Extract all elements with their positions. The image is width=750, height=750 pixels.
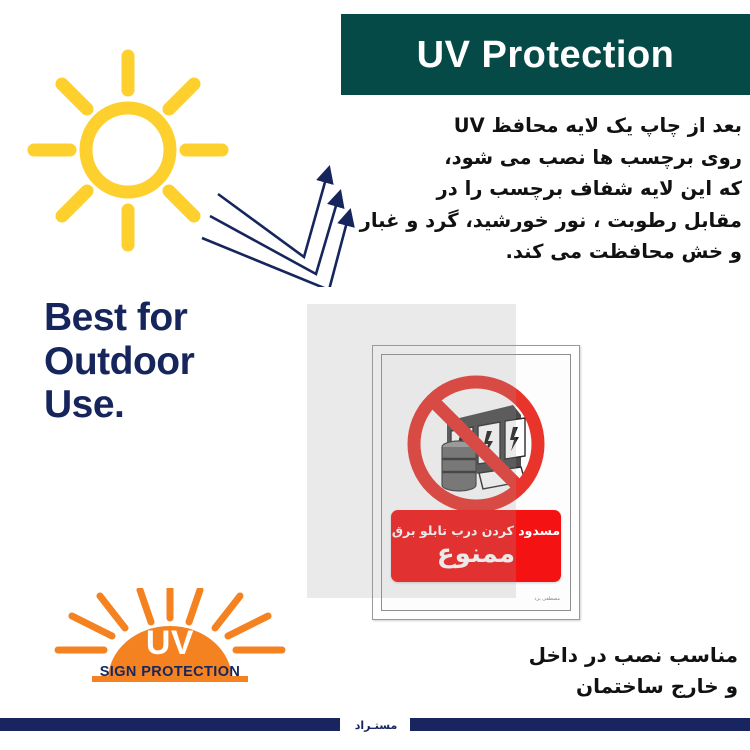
warning-sign-card: مسدود کردن درب تابلو برق ممنوع مصطفی یزد [372,345,580,620]
description-line-3: که این لایه شفاف برچسب را در [370,173,742,205]
description-text: بعد از چاپ یک لایه محافظ UV روی برچسب ها… [370,110,742,268]
bottom-note-text: مناسب نصب در داخل و خارج ساختمان [438,640,738,702]
sign-inner-border: مسدود کردن درب تابلو برق ممنوع مصطفی یزد [381,354,571,611]
header-banner: UV Protection [341,14,750,95]
logo-subtitle: SIGN PROTECTION [52,664,288,680]
sign-credit-text: مصطفی یزد [534,596,560,602]
headline-line-1: Best for [44,296,284,340]
page-title: UV Protection [417,36,675,74]
sign-message-line-2: ممنوع [437,541,515,567]
description-line-5: و خش محافظت می کند. [370,236,742,268]
footer-bar-left [0,718,340,731]
footer-brand-name: مستـراد [343,716,409,734]
description-line-2: روی برچسب ها نصب می شود، [370,142,742,174]
description-line-1: بعد از چاپ یک لایه محافظ UV [370,110,742,142]
infographic-canvas: UV Protection بعد از چاپ یک لایه محافظ U… [0,0,750,750]
reflection-arrows-icon [196,162,371,287]
description-line-4: مقابل رطوبت ، نور خورشید، گرد و غبار [370,205,742,237]
sign-red-message-block: مسدود کردن درب تابلو برق ممنوع [391,510,561,582]
bottom-note-line-2: و خارج ساختمان [438,671,738,702]
bottom-note-line-1: مناسب نصب در داخل [438,640,738,671]
uv-sign-protection-logo: UV SIGN PROTECTION [52,588,288,700]
prohibition-sign-icon [401,369,551,519]
sign-message-line-1: مسدود کردن درب تابلو برق [392,525,560,538]
headline-line-3: Use. [44,383,284,427]
footer: مستـراد [0,714,750,736]
headline-best-for-outdoor-use: Best for Outdoor Use. [44,296,284,427]
logo-uv-text: UV [52,626,288,660]
headline-line-2: Outdoor [44,340,284,384]
footer-bar-right [410,718,750,731]
